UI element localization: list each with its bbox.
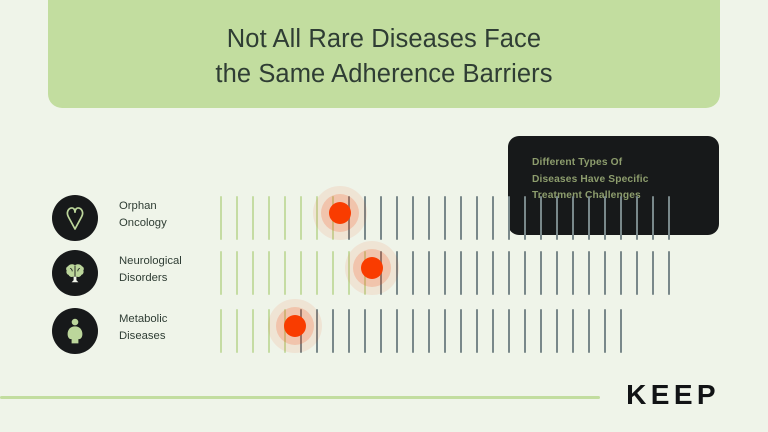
tick-mark [636, 196, 638, 240]
tick-mark [572, 251, 574, 295]
tick-mark [300, 196, 302, 240]
marker-core [284, 315, 306, 337]
tick-mark [444, 309, 446, 353]
brand-logo: KEEP [626, 381, 720, 409]
tick-mark [556, 251, 558, 295]
disease-row-label: Orphan Oncology [119, 198, 167, 232]
tick-mark [588, 196, 590, 240]
tick-mark [332, 251, 334, 295]
body-silhouette-icon [65, 318, 85, 344]
tick-mark [476, 251, 478, 295]
tick-mark [252, 196, 254, 240]
icon-badge [52, 308, 98, 354]
tick-mark [460, 251, 462, 295]
tick-mark [476, 309, 478, 353]
icon-badge [52, 250, 98, 296]
tick-mark [380, 196, 382, 240]
marker-core [329, 202, 351, 224]
tick-mark [508, 309, 510, 353]
tick-mark [540, 196, 542, 240]
tick-mark [556, 196, 558, 240]
tick-mark [220, 196, 222, 240]
threshold-marker[interactable] [268, 299, 322, 353]
tick-mark [252, 309, 254, 353]
tick-mark [604, 309, 606, 353]
tick-mark [508, 196, 510, 240]
tick-mark [668, 196, 670, 240]
awareness-ribbon-icon [64, 206, 86, 230]
tick-mark [572, 309, 574, 353]
threshold-marker[interactable] [345, 241, 399, 295]
tick-mark [636, 251, 638, 295]
tick-mark [300, 251, 302, 295]
tick-mark [428, 309, 430, 353]
tick-mark [476, 196, 478, 240]
tick-mark [252, 251, 254, 295]
brain-icon [63, 261, 87, 285]
slide-canvas: Not All Rare Diseases Face the Same Adhe… [0, 0, 768, 432]
disease-row-label: Neurological Disorders [119, 253, 182, 287]
tick-mark [412, 251, 414, 295]
tick-mark [220, 309, 222, 353]
tick-mark [444, 251, 446, 295]
tick-mark [524, 196, 526, 240]
disease-row[interactable]: Neurological Disorders [0, 245, 768, 301]
tick-mark [492, 309, 494, 353]
tick-mark [524, 251, 526, 295]
tick-mark [588, 309, 590, 353]
tick-mark [652, 196, 654, 240]
tick-mark [604, 196, 606, 240]
tick-mark [668, 251, 670, 295]
tick-mark [588, 251, 590, 295]
tick-mark [380, 309, 382, 353]
tick-mark [508, 251, 510, 295]
tick-mark [236, 251, 238, 295]
disease-row[interactable]: Orphan Oncology [0, 190, 768, 246]
tick-mark [364, 309, 366, 353]
tick-mark [220, 251, 222, 295]
tick-mark [236, 196, 238, 240]
footer-divider [0, 396, 600, 399]
disease-row[interactable]: Metabolic Diseases [0, 303, 768, 359]
tick-track [220, 190, 684, 246]
tick-mark [604, 251, 606, 295]
tick-mark [316, 251, 318, 295]
tick-mark [492, 251, 494, 295]
tick-mark [460, 196, 462, 240]
icon-badge [52, 195, 98, 241]
tick-mark [540, 251, 542, 295]
header-band: Not All Rare Diseases Face the Same Adhe… [48, 0, 720, 108]
disease-row-label: Metabolic Diseases [119, 311, 167, 345]
page-title: Not All Rare Diseases Face the Same Adhe… [215, 22, 552, 92]
tick-mark [412, 196, 414, 240]
tick-mark [428, 251, 430, 295]
tick-mark [236, 309, 238, 353]
tick-mark [396, 309, 398, 353]
tick-mark [556, 309, 558, 353]
tick-mark [268, 196, 270, 240]
tick-mark [620, 251, 622, 295]
tick-mark [268, 251, 270, 295]
tick-mark [620, 196, 622, 240]
tick-mark [412, 309, 414, 353]
tick-mark [332, 309, 334, 353]
tick-mark [540, 309, 542, 353]
tick-mark [524, 309, 526, 353]
tick-mark [460, 309, 462, 353]
tick-track [220, 245, 684, 301]
tick-mark [492, 196, 494, 240]
tick-mark [652, 251, 654, 295]
tick-mark [572, 196, 574, 240]
tick-mark [428, 196, 430, 240]
marker-core [361, 257, 383, 279]
tick-mark [620, 309, 622, 353]
tick-mark [284, 251, 286, 295]
tick-mark [348, 309, 350, 353]
threshold-marker[interactable] [313, 186, 367, 240]
tick-mark [396, 196, 398, 240]
tick-mark [444, 196, 446, 240]
tick-mark [284, 196, 286, 240]
